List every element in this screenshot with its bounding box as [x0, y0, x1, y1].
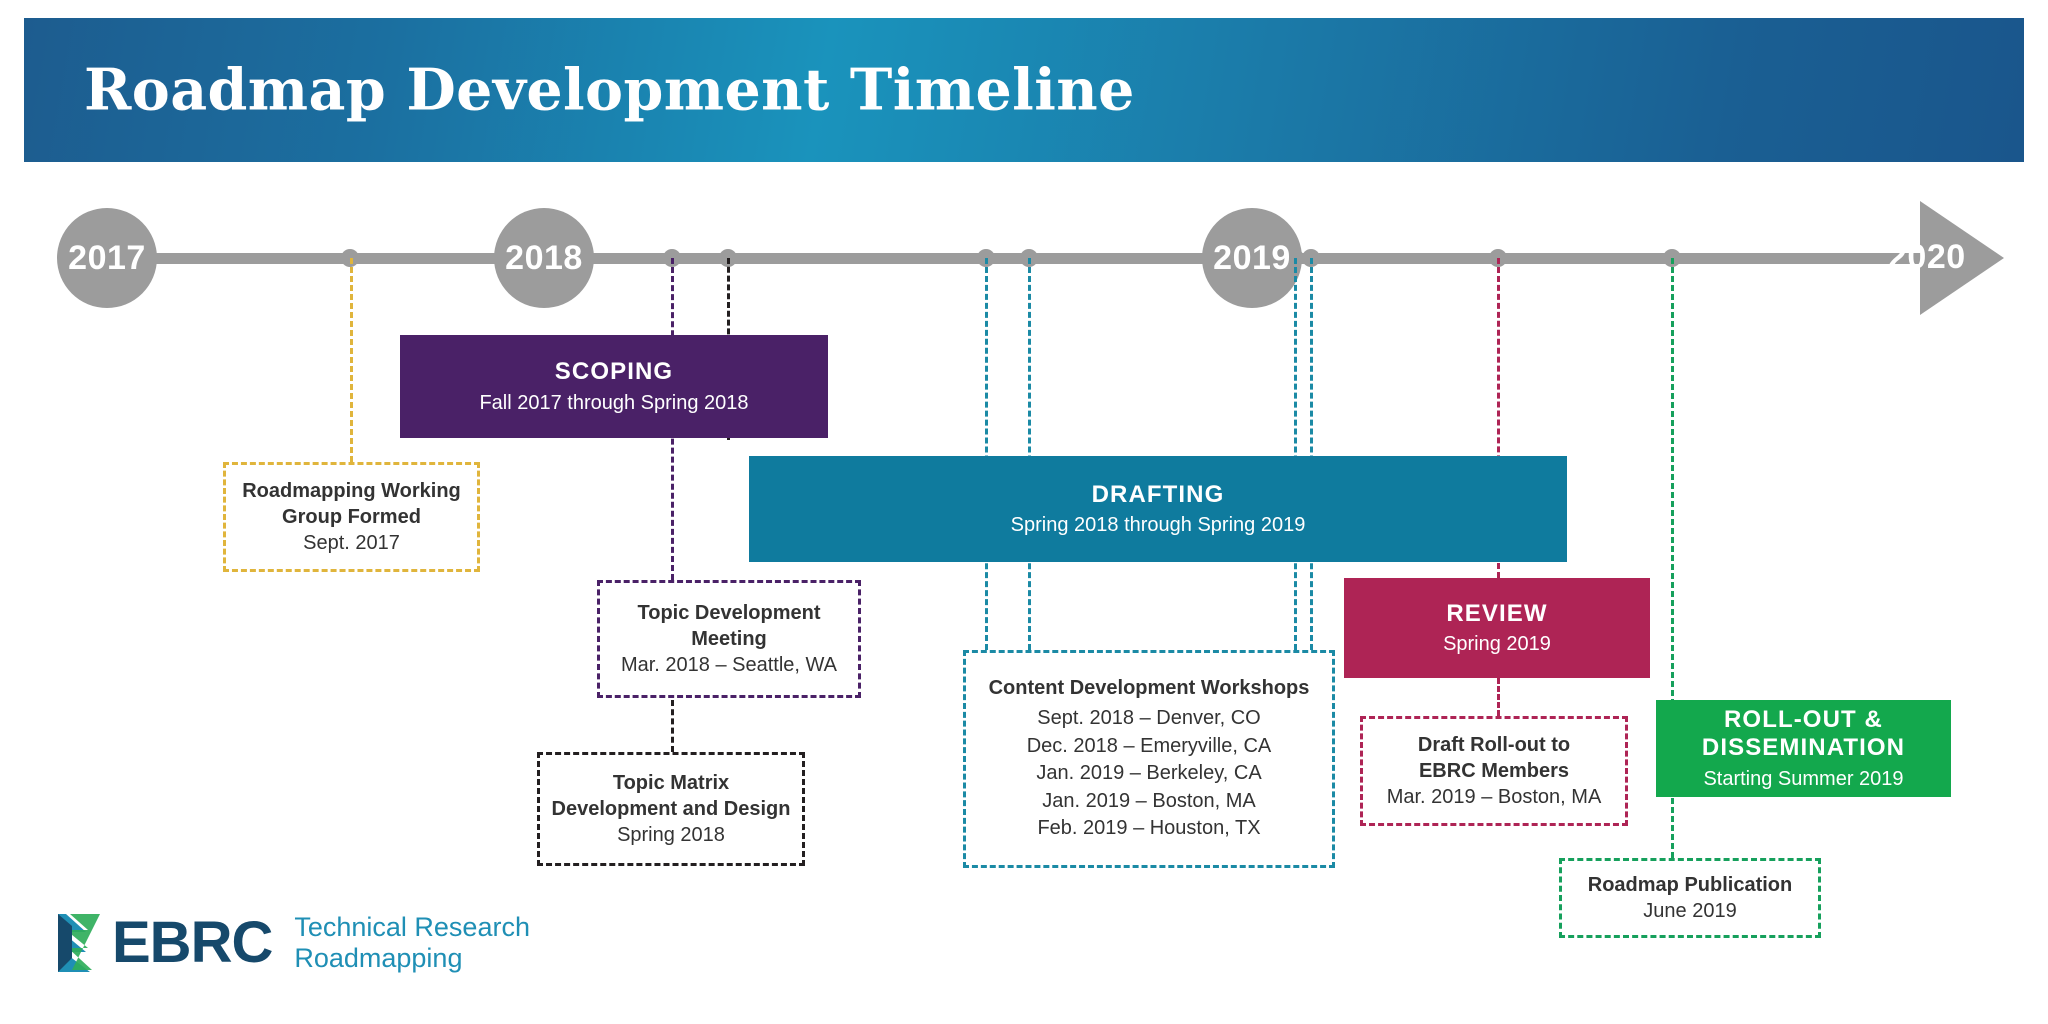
connector-workshop-4	[1310, 258, 1313, 650]
milestone-title-line2: Meeting	[691, 626, 767, 652]
workshop-line-1: Sept. 2018 – Denver, CO	[1037, 705, 1260, 733]
workshop-line-3: Jan. 2019 – Berkeley, CA	[1036, 760, 1261, 788]
year-label-2018: 2018	[505, 239, 583, 278]
connector-working-group	[350, 258, 353, 462]
phase-title-drafting: DRAFTING	[1092, 481, 1225, 509]
phase-title-rollout-line2: DISSEMINATION	[1702, 734, 1905, 762]
year-label-2020: 2020	[1888, 238, 1966, 277]
page-title: Roadmap Development Timeline	[84, 57, 1135, 124]
year-label-2019: 2019	[1213, 239, 1291, 278]
connector-workshop-2	[1028, 258, 1031, 650]
phase-title-rollout-line1: ROLL-OUT &	[1724, 706, 1883, 734]
year-label-2017: 2017	[68, 239, 146, 278]
milestone-detail: Mar. 2018 – Seattle, WA	[621, 652, 837, 679]
ebrc-chevron-icon	[56, 912, 102, 974]
header-banner: Roadmap Development Timeline	[24, 18, 2024, 162]
phase-subtitle-rollout: Starting Summer 2019	[1703, 767, 1903, 791]
milestone-title: Roadmap Publication	[1588, 872, 1792, 898]
ebrc-wordmark: EBRC	[112, 914, 272, 972]
phase-bar-review[interactable]: REVIEW Spring 2019	[1344, 578, 1650, 678]
milestone-topic-matrix[interactable]: Topic Matrix Development and Design Spri…	[537, 752, 805, 866]
milestone-detail: June 2019	[1643, 898, 1736, 925]
ebrc-tagline-line2: Roadmapping	[294, 943, 530, 974]
phase-subtitle-review: Spring 2019	[1443, 632, 1551, 656]
phase-title-review: REVIEW	[1446, 600, 1547, 628]
ebrc-logo: EBRC Technical Research Roadmapping	[56, 912, 530, 975]
milestone-title-line1: Roadmapping Working	[242, 478, 461, 504]
year-node-2017: 2017	[57, 208, 157, 308]
timeline-infographic: Roadmap Development Timeline 2017 2018 2…	[0, 0, 2048, 1024]
milestone-title: Content Development Workshops	[989, 675, 1310, 701]
milestone-detail: Mar. 2019 – Boston, MA	[1387, 784, 1602, 811]
workshop-line-4: Jan. 2019 – Boston, MA	[1042, 788, 1255, 816]
ebrc-tagline-line1: Technical Research	[294, 912, 530, 943]
phase-bar-scoping[interactable]: SCOPING Fall 2017 through Spring 2018	[400, 335, 828, 438]
milestone-title-line1: Topic Matrix	[613, 770, 729, 796]
milestone-working-group[interactable]: Roadmapping Working Group Formed Sept. 2…	[223, 462, 480, 572]
milestone-title-line1: Draft Roll-out to	[1418, 732, 1570, 758]
phase-bar-rollout[interactable]: ROLL-OUT & DISSEMINATION Starting Summer…	[1656, 700, 1951, 797]
workshop-line-5: Feb. 2019 – Houston, TX	[1037, 815, 1260, 843]
milestone-detail: Spring 2018	[617, 822, 725, 849]
year-node-2019: 2019	[1202, 208, 1302, 308]
phase-subtitle-scoping: Fall 2017 through Spring 2018	[479, 391, 748, 415]
year-node-2018: 2018	[494, 208, 594, 308]
milestone-title-line2: EBRC Members	[1419, 758, 1569, 784]
milestone-detail: Sept. 2017	[303, 530, 400, 557]
connector-draft-rollout	[1497, 678, 1500, 716]
milestone-title-line2: Group Formed	[282, 504, 421, 530]
milestone-content-development-workshops[interactable]: Content Development Workshops Sept. 2018…	[963, 650, 1335, 868]
ebrc-tagline: Technical Research Roadmapping	[294, 912, 530, 975]
phase-title-scoping: SCOPING	[555, 358, 673, 386]
connector-topic-matrix-bottom	[671, 700, 674, 752]
connector-workshop-1	[985, 258, 988, 650]
workshop-line-2: Dec. 2018 – Emeryville, CA	[1027, 733, 1272, 761]
milestone-title-line1: Topic Development	[638, 600, 821, 626]
phase-bar-drafting[interactable]: DRAFTING Spring 2018 through Spring 2019	[749, 456, 1567, 562]
milestone-roadmap-publication[interactable]: Roadmap Publication June 2019	[1559, 858, 1821, 938]
milestone-topic-development-meeting[interactable]: Topic Development Meeting Mar. 2018 – Se…	[597, 580, 861, 698]
milestone-draft-rollout[interactable]: Draft Roll-out to EBRC Members Mar. 2019…	[1360, 716, 1628, 826]
phase-subtitle-drafting: Spring 2018 through Spring 2019	[1011, 513, 1306, 537]
connector-workshop-3	[1294, 258, 1297, 650]
milestone-title-line2: Development and Design	[552, 796, 791, 822]
